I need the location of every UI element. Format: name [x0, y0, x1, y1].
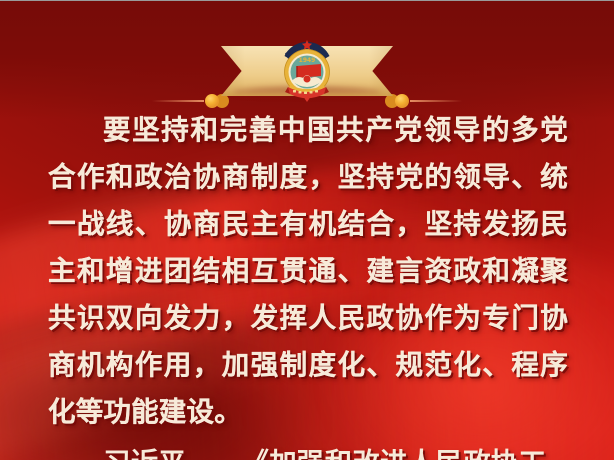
quote-text: 要坚持和完善中国共产党领导的多党合作和政治协商制度，坚持党的领导、统一战线、协商…	[48, 107, 568, 436]
banner-line-left-icon	[152, 100, 204, 102]
quote-block: 要坚持和完善中国共产党领导的多党合作和政治协商制度，坚持党的领导、统一战线、协商…	[0, 107, 614, 460]
banner-decoration-right	[384, 94, 462, 108]
poster-root: 1949	[0, 0, 614, 460]
quote-attribution: 习近平——《加强和改进人民政协工作 全面发展协商民主》	[48, 440, 568, 460]
banner-line-right-icon	[410, 100, 462, 102]
gold-dot-front-icon	[205, 94, 219, 108]
emblem-year-label: 1949	[299, 57, 316, 64]
gold-dot-front-icon	[395, 94, 409, 108]
header-banner: 1949	[0, 31, 614, 109]
cppcc-emblem-icon: 1949	[278, 39, 336, 103]
banner-decoration-left	[152, 94, 230, 108]
